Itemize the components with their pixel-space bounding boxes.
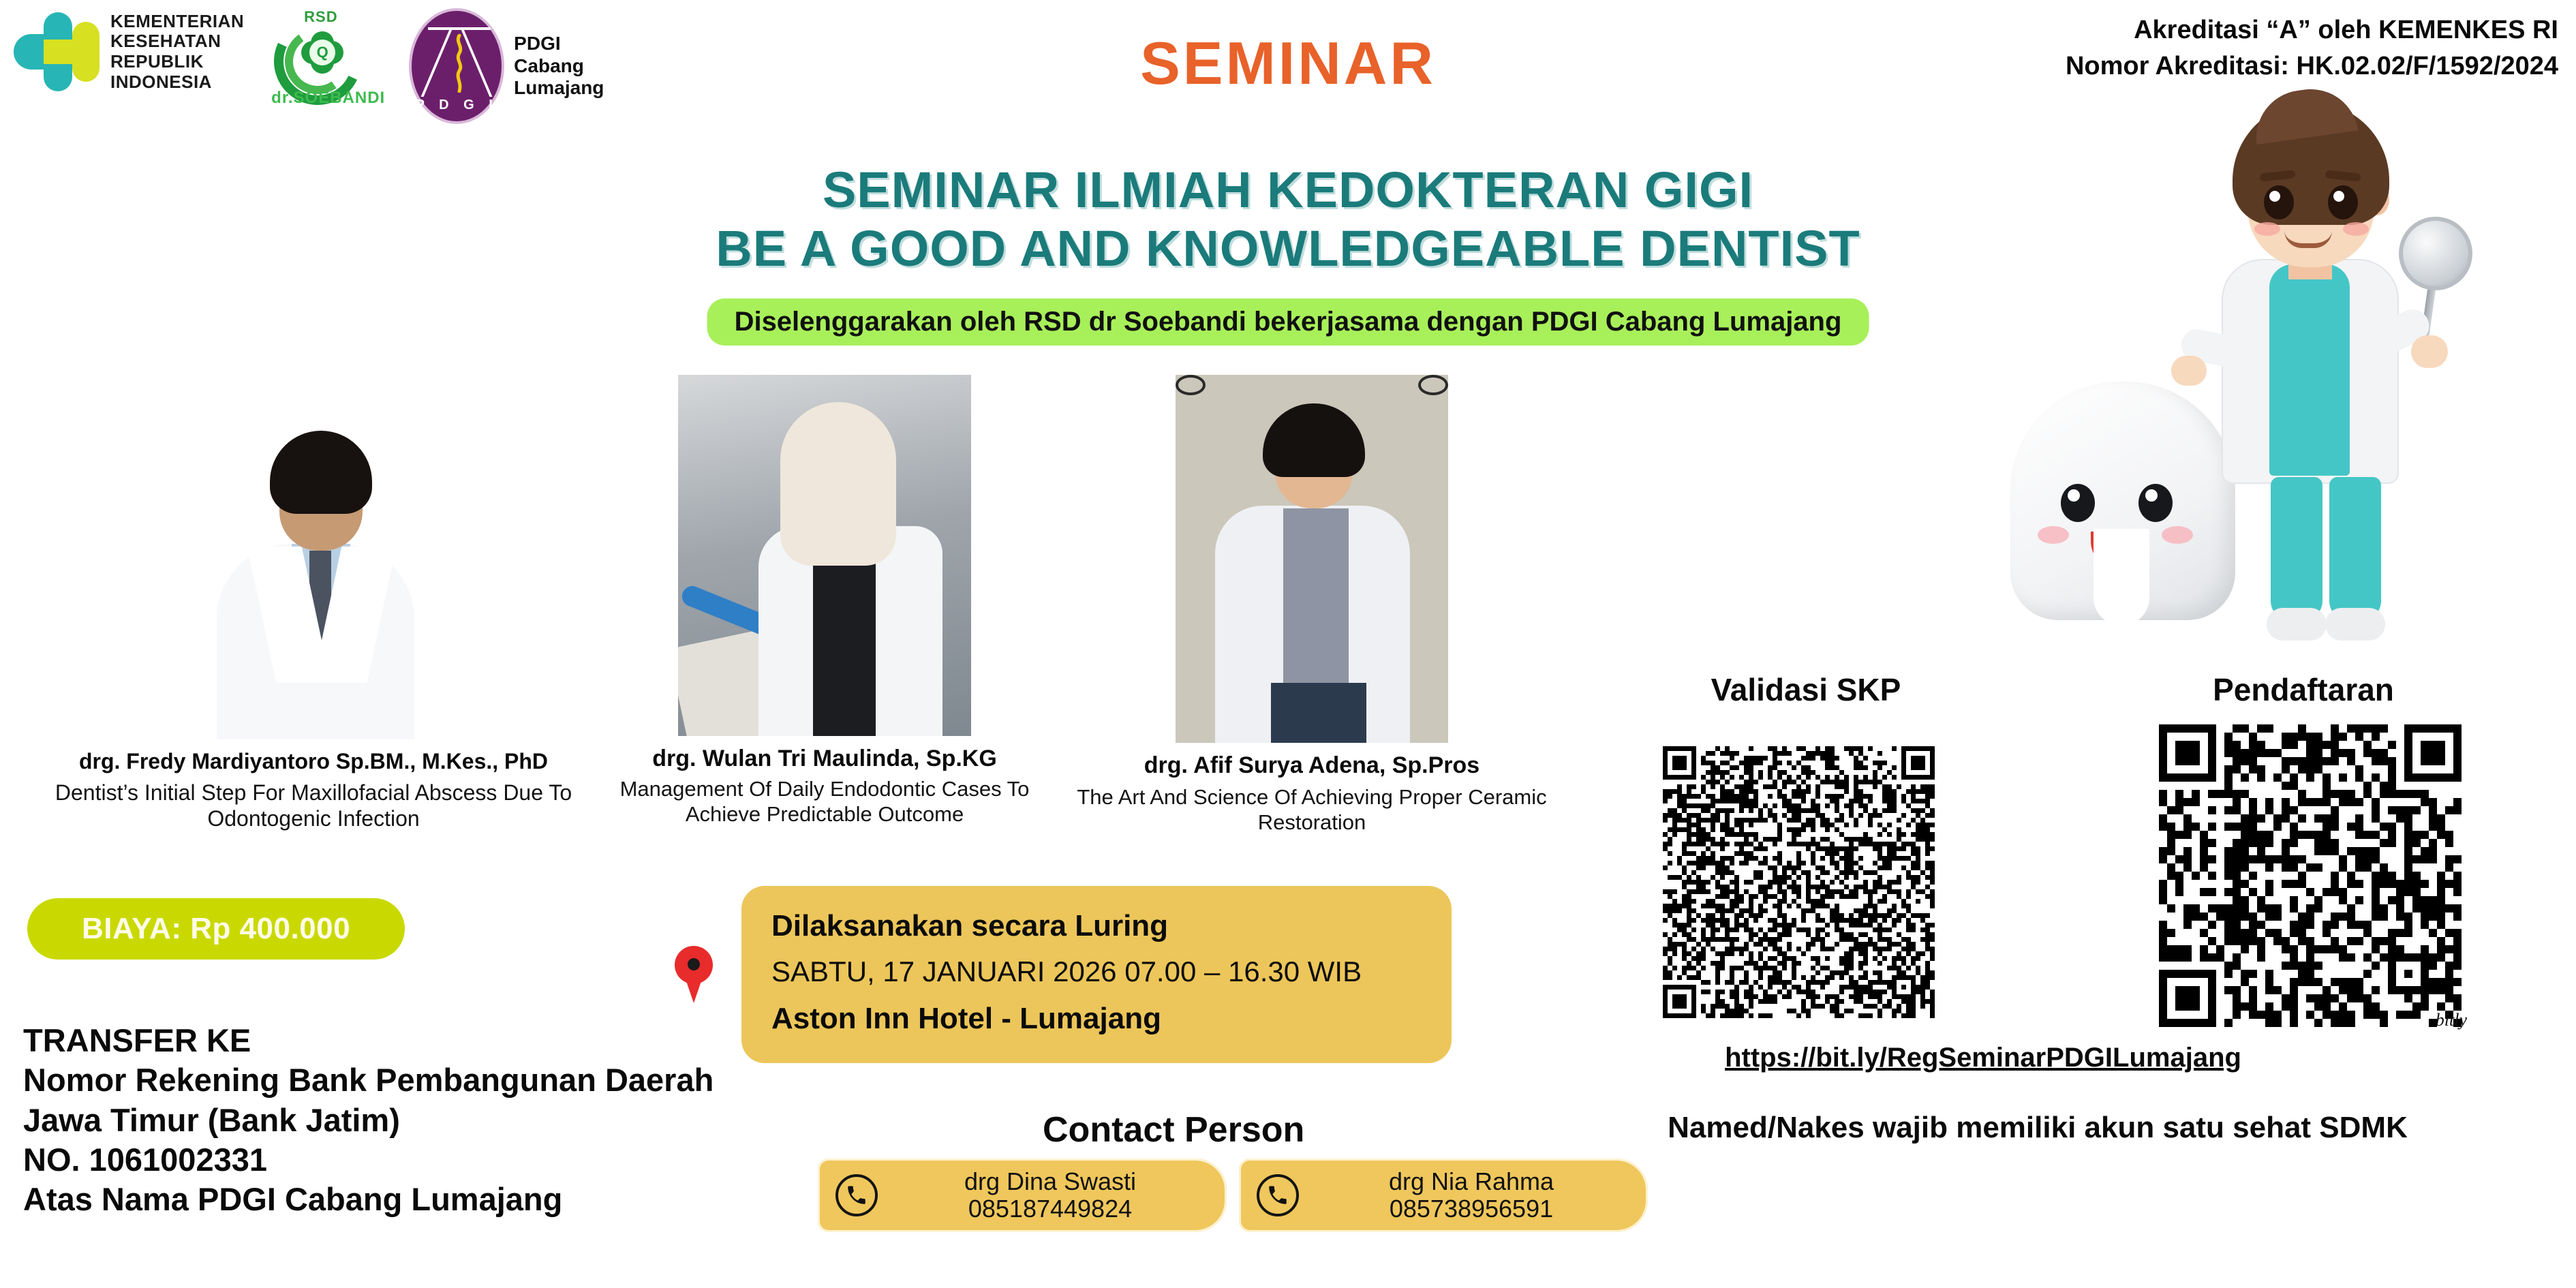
- speaker-card-2: drg. Wulan Tri Maulinda, Sp.KG Managemen…: [586, 375, 1063, 827]
- contact-card-2[interactable]: drg Nia Rahma 085738956591: [1239, 1159, 1648, 1232]
- dental-mirror-icon: [2399, 217, 2472, 290]
- transfer-line-2: Nomor Rekening Bank Pembangunan Daerah: [23, 1060, 714, 1100]
- validasi-skp-label: Validasi SKP: [1663, 671, 1949, 708]
- seminar-poster: KEMENTERIAN KESEHATAN REPUBLIK INDONESIA…: [0, 0, 2576, 1288]
- speaker-topic-1: Dentist’s Initial Step For Maxillofacial…: [0, 780, 627, 832]
- speaker-topic-3: The Art And Science Of Achieving Proper …: [1070, 784, 1554, 835]
- qr-code-icon-validasi-skp[interactable]: [1639, 722, 1959, 1043]
- organizer-banner: Diselenggarakan oleh RSD dr Soebandi bek…: [707, 298, 1869, 346]
- bitly-watermark: bitly: [2436, 1010, 2467, 1030]
- pdgi-badge-letters: P D G I: [412, 97, 502, 113]
- registration-url-link[interactable]: https://bit.ly/RegSeminarPDGILumajang: [1725, 1043, 2241, 1073]
- contact-phone-1: 085187449824: [968, 1195, 1132, 1223]
- speaker-photo-2: [678, 375, 971, 736]
- speaker-name-2: drg. Wulan Tri Maulinda, Sp.KG: [586, 746, 1063, 772]
- speaker-name-1: drg. Fredy Mardiyantoro Sp.BM., M.Kes., …: [0, 749, 627, 774]
- transfer-info: TRANSFER KE Nomor Rekening Bank Pembangu…: [23, 1021, 714, 1219]
- contact-person-title: Contact Person: [1043, 1109, 1304, 1150]
- phone-icon: [835, 1174, 878, 1216]
- speaker-name-3: drg. Afif Surya Adena, Sp.Pros: [1070, 752, 1554, 779]
- speaker-photo-3: [1176, 375, 1448, 743]
- contact-name-1: drg Dina Swasti: [964, 1167, 1136, 1195]
- speaker-topic-2: Management Of Daily Endodontic Cases To …: [586, 776, 1063, 827]
- sdmk-note: Named/Nakes wajib memiliki akun satu seh…: [1668, 1111, 2408, 1145]
- cartoon-dentist-with-tooth-illustration: [1997, 95, 2474, 654]
- contact-person-list: drg Dina Swasti 085187449824 drg Nia Rah…: [818, 1159, 1648, 1232]
- contact-name-2: drg Nia Rahma: [1389, 1167, 1554, 1195]
- speaker-card-1: drg. Fredy Mardiyantoro Sp.BM., M.Kes., …: [0, 368, 627, 832]
- seminar-kicker: SEMINAR: [0, 29, 2576, 98]
- event-datetime: SABTU, 17 JANUARI 2026 07.00 – 16.30 WIB: [771, 955, 1424, 988]
- contact-phone-2: 085738956591: [1390, 1195, 1553, 1223]
- pendaftaran-label: Pendaftaran: [2160, 671, 2447, 708]
- map-pin-icon: [675, 946, 713, 1005]
- transfer-line-3: Jawa Timur (Bank Jatim): [23, 1101, 714, 1140]
- speaker-card-3: drg. Afif Surya Adena, Sp.Pros The Art A…: [1070, 375, 1554, 835]
- qr-code-icon-pendaftaran[interactable]: bitly: [2147, 716, 2474, 1036]
- fee-badge: BIAYA: Rp 400.000: [27, 898, 405, 960]
- transfer-account-name: Atas Nama PDGI Cabang Lumajang: [23, 1180, 714, 1219]
- event-venue: Aston Inn Hotel - Lumajang: [771, 1002, 1424, 1036]
- dentist-character-icon: [2167, 95, 2453, 641]
- contact-card-1[interactable]: drg Dina Swasti 085187449824: [818, 1159, 1227, 1232]
- event-details-box: Dilaksanakan secara Luring SABTU, 17 JAN…: [741, 886, 1452, 1063]
- transfer-line-1: TRANSFER KE: [23, 1021, 714, 1060]
- phone-icon: [1257, 1174, 1299, 1216]
- transfer-account-number: NO. 1061002331: [23, 1140, 714, 1180]
- rsd-top-label: RSD: [304, 8, 337, 26]
- event-mode: Dilaksanakan secara Luring: [771, 909, 1424, 943]
- speaker-photo-1: [196, 368, 431, 739]
